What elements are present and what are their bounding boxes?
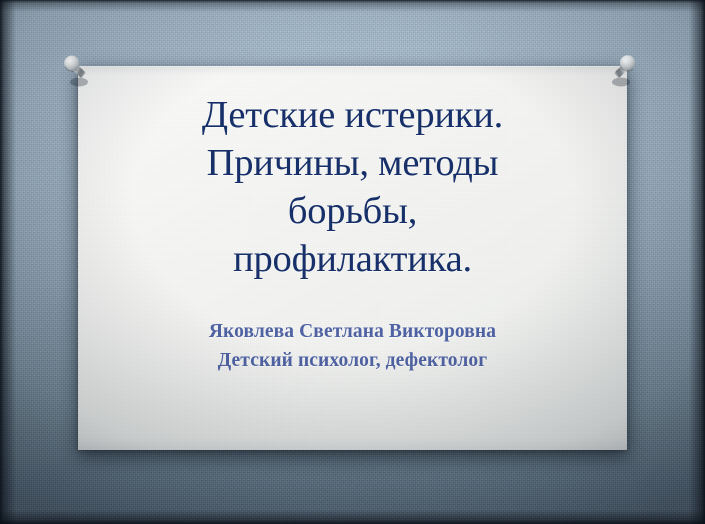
presentation-slide: Детские истерики. Причины, методы борьбы… [0, 0, 705, 524]
slide-vignette [0, 0, 705, 524]
